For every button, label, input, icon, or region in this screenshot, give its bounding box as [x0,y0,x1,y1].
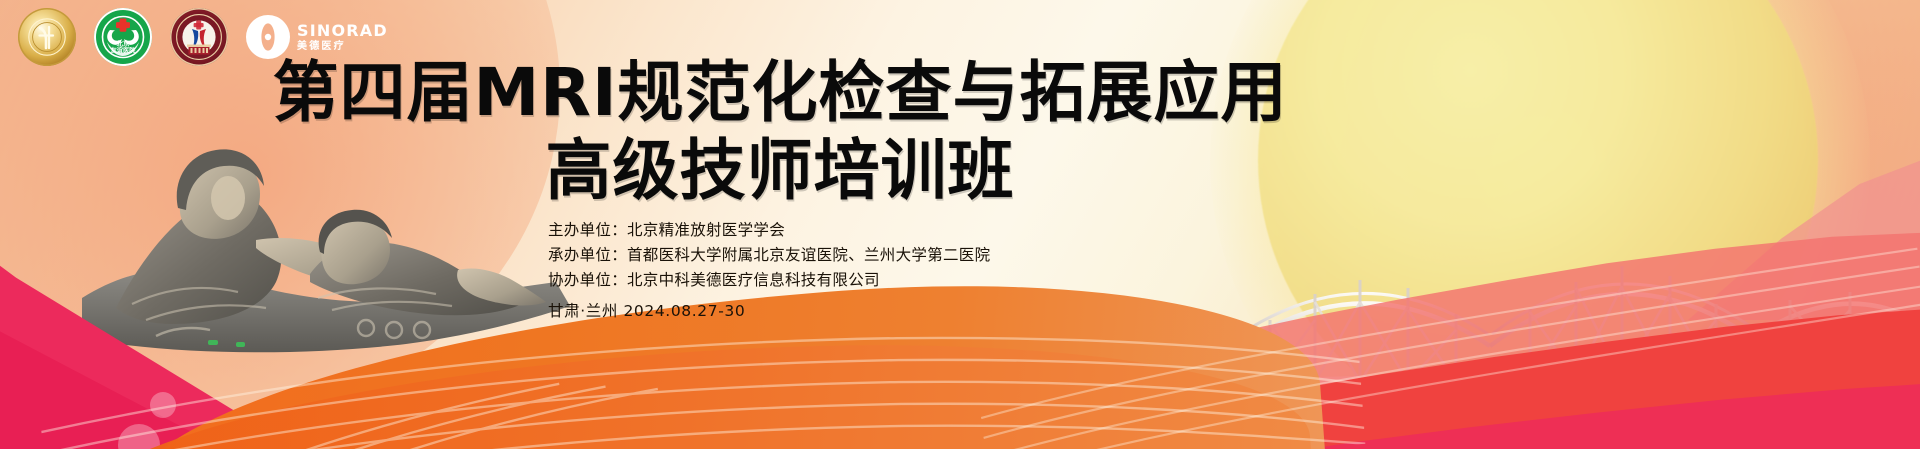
cross-emblem-icon [27,17,67,57]
conference-banner: 北京 友谊医院 [0,0,1920,449]
zhongshan-bridge-illustration [960,180,1920,440]
title-line-2: 高级技师培训班 [0,136,1560,206]
svg-text:北京: 北京 [117,39,130,48]
title-line-1: 第四届MRI规范化检查与拓展应用 [0,58,1560,128]
red-wave-right [1090,300,1920,449]
sinorad-logo: SINORAD 美德医疗 [246,15,388,59]
svg-text:友谊医院: 友谊医院 [110,46,137,54]
decorative-dot-3 [880,392,902,414]
sinorad-brand-name-cn: 美德医疗 [297,42,388,52]
title-block: 第四届MRI规范化检查与拓展应用 高级技师培训班 [0,58,1560,206]
red-wave-pale-right [1040,232,1920,449]
decorative-dot-2 [118,424,160,449]
red-wave-deep-right [1260,372,1920,449]
organizer-line: 主办单位：北京精准放射医学学会 [548,218,990,243]
crimson-wedge-left [0,236,520,449]
venue-date-line: 甘肃·兰州 2024.08.27-30 [548,299,990,324]
hospital-crest-icon [173,11,225,63]
crimson-wedge-left-inner [0,300,380,449]
host-line: 承办单位：首都医科大学附属北京友谊医院、兰州大学第二医院 [548,243,990,268]
sinorad-mark-icon [246,15,290,59]
event-details: 主办单位：北京精准放射医学学会 承办单位：首都医科大学附属北京友谊医院、兰州大学… [548,218,990,324]
wave-contour-lines-right [974,243,1920,449]
red-mountain-top-right [1688,150,1920,320]
doves-and-cross-icon: 北京 友谊医院 [98,12,148,62]
decorative-dot-1 [150,392,176,418]
orange-wave-band-lower [56,319,1315,449]
coorganizer-line: 协办单位：北京中科美德医疗信息科技有限公司 [548,268,990,293]
eye-lens-icon [248,17,288,57]
sinorad-brand-name: SINORAD [297,23,388,39]
sinorad-wordmark: SINORAD 美德医疗 [297,23,388,52]
